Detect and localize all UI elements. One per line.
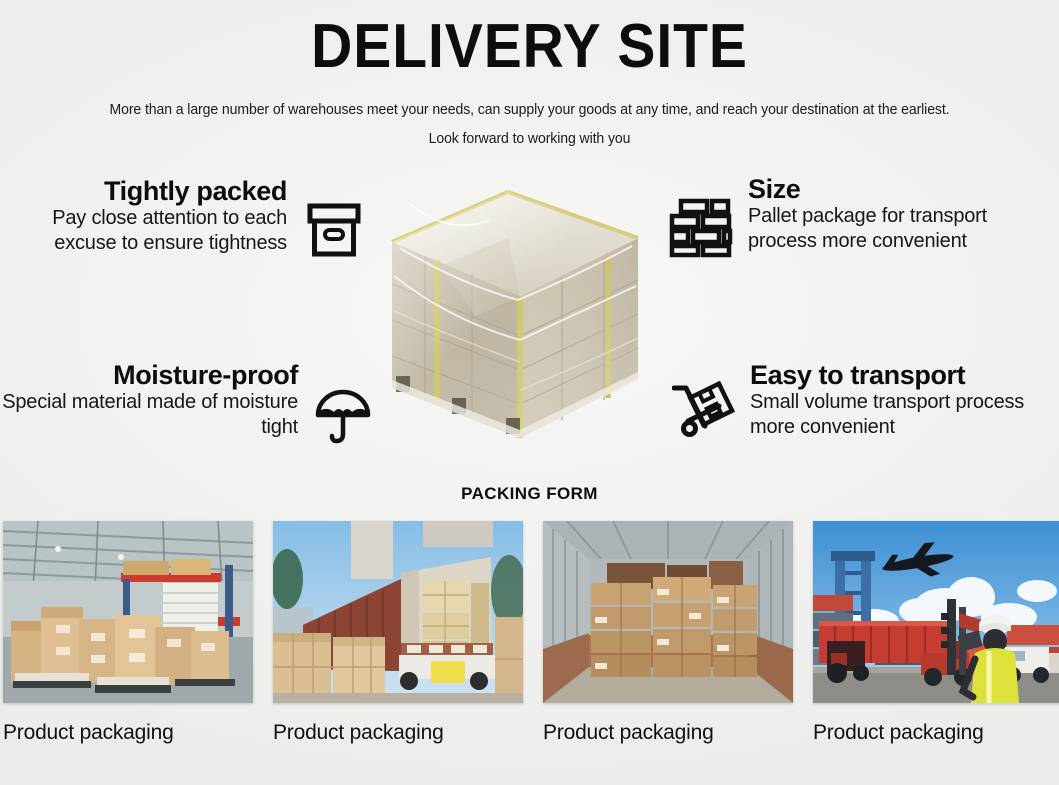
feature-description: Special material made of moisture tight — [0, 390, 298, 439]
feature-title: Size — [748, 174, 1059, 204]
gallery-caption: Product packaging — [3, 721, 253, 745]
packing-form-gallery: Product packaging — [0, 521, 1059, 761]
packing-form-heading: PACKING FORM — [0, 484, 1059, 504]
feature-description: Pay close attention to each excuse to en… — [0, 206, 287, 255]
gallery-item: Product packaging — [3, 521, 253, 761]
feature-title: Easy to transport — [750, 360, 1059, 390]
feature-description: Small volume transport process more conv… — [750, 390, 1059, 439]
archive-box-icon — [303, 200, 365, 267]
page-header: DELIVERY SITE More than a large number o… — [0, 0, 1059, 147]
container-interior-photo[interactable] — [543, 521, 793, 703]
gallery-item: Product packaging — [813, 521, 1059, 761]
hand-truck-icon — [672, 380, 738, 447]
feature-title: Moisture-proof — [0, 360, 298, 390]
port-yard-photo[interactable] — [813, 521, 1059, 703]
gallery-item: Product packaging — [543, 521, 793, 761]
header-subtitle-line-2: Look forward to working with you — [16, 131, 1043, 147]
gallery-item: Product packaging — [273, 521, 523, 761]
feature-size: Size Pallet package for transport proces… — [668, 174, 1059, 263]
umbrella-icon — [314, 386, 372, 451]
feature-easy-to-transport: Easy to transport Small volume transport… — [672, 360, 1059, 447]
gallery-caption: Product packaging — [813, 721, 1059, 745]
feature-title: Tightly packed — [0, 176, 287, 206]
feature-text-block: Tightly packed Pay close attention to ea… — [0, 176, 303, 255]
feature-moisture-proof: Moisture-proof Special material made of … — [0, 360, 372, 451]
shrink-wrapped-pallet-photo — [380, 180, 650, 452]
pallet-illustration — [380, 180, 650, 452]
brick-wall-icon — [668, 196, 734, 263]
feature-text-block: Easy to transport Small volume transport… — [738, 360, 1059, 439]
page-title: DELIVERY SITE — [42, 16, 1016, 78]
container-loading-photo[interactable] — [273, 521, 523, 703]
feature-description: Pallet package for transport process mor… — [748, 204, 1059, 253]
feature-text-block: Moisture-proof Special material made of … — [0, 360, 314, 439]
feature-tightly-packed: Tightly packed Pay close attention to ea… — [0, 176, 365, 267]
feature-text-block: Size Pallet package for transport proces… — [734, 174, 1059, 253]
header-subtitle-line-1: More than a large number of warehouses m… — [16, 102, 1043, 118]
gallery-caption: Product packaging — [543, 721, 793, 745]
warehouse-interior-photo[interactable] — [3, 521, 253, 703]
gallery-caption: Product packaging — [273, 721, 523, 745]
